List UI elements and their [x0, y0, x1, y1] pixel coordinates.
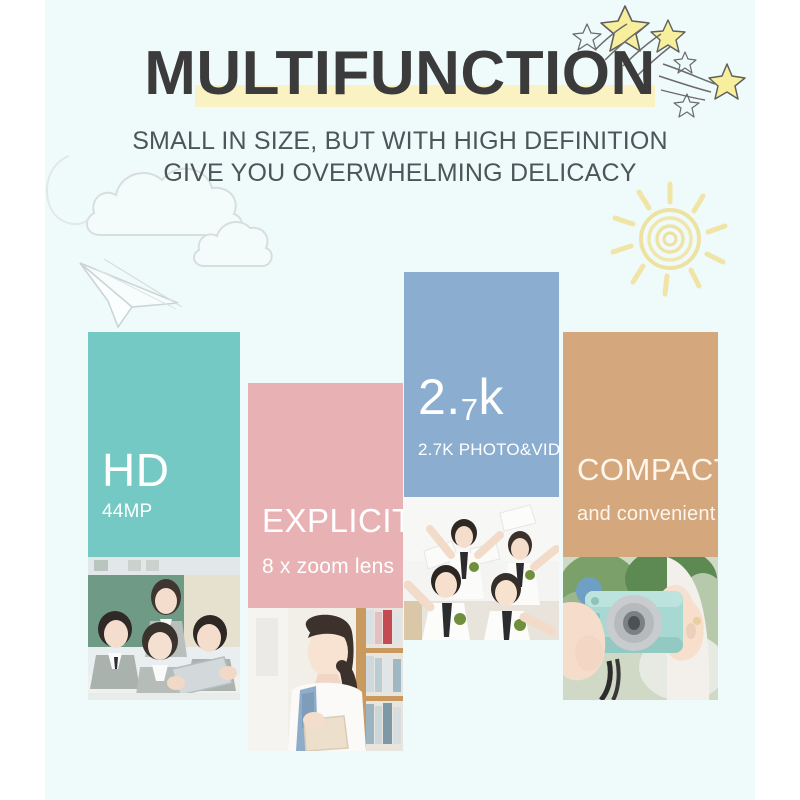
feature-card-compact-title: COMPACT	[577, 448, 718, 492]
page-title-wrap: MULTIFUNCTION	[45, 38, 755, 110]
feature-card-explicit-title: EXPLICIT	[262, 499, 403, 543]
feature-card-hd-title: HD	[102, 448, 169, 492]
photo-classroom	[88, 557, 240, 700]
feature-card-hd-subtitle: 44MP	[102, 500, 152, 524]
photo-cheer	[404, 497, 559, 640]
subtitle-line-2: GIVE YOU OVERWHELMING DELICACY	[45, 157, 755, 189]
poster-root: MULTIFUNCTION SMALL IN SIZE, BUT WITH HI…	[0, 0, 800, 800]
subtitle: SMALL IN SIZE, BUT WITH HIGH DEFINITION …	[45, 125, 755, 189]
feature-card-hd: HD 44MP	[88, 332, 240, 564]
resolution-small: 7	[461, 392, 479, 427]
paper-airplane-icon	[70, 245, 195, 335]
feature-card-resolution: 2.7k 2.7K PHOTO&VIDEO	[404, 272, 559, 504]
feature-card-resolution-subtitle: 2.7K PHOTO&VIDEO	[418, 438, 559, 462]
feature-card-compact-subtitle: and convenient	[577, 502, 715, 526]
poster-canvas: MULTIFUNCTION SMALL IN SIZE, BUT WITH HI…	[45, 0, 755, 800]
page-title: MULTIFUNCTION	[45, 38, 755, 110]
feature-card-resolution-title: 2.7k	[418, 375, 504, 426]
feature-card-explicit: EXPLICIT 8 x zoom lens	[248, 383, 403, 615]
subtitle-line-1: SMALL IN SIZE, BUT WITH HIGH DEFINITION	[45, 125, 755, 157]
resolution-main: 2.	[418, 369, 461, 425]
resolution-tail: k	[478, 369, 504, 425]
photo-camera	[563, 557, 718, 700]
photo-library	[248, 608, 403, 751]
feature-card-compact: COMPACT and convenient	[563, 332, 718, 564]
header: MULTIFUNCTION SMALL IN SIZE, BUT WITH HI…	[45, 0, 755, 200]
feature-card-explicit-subtitle: 8 x zoom lens	[262, 555, 394, 579]
